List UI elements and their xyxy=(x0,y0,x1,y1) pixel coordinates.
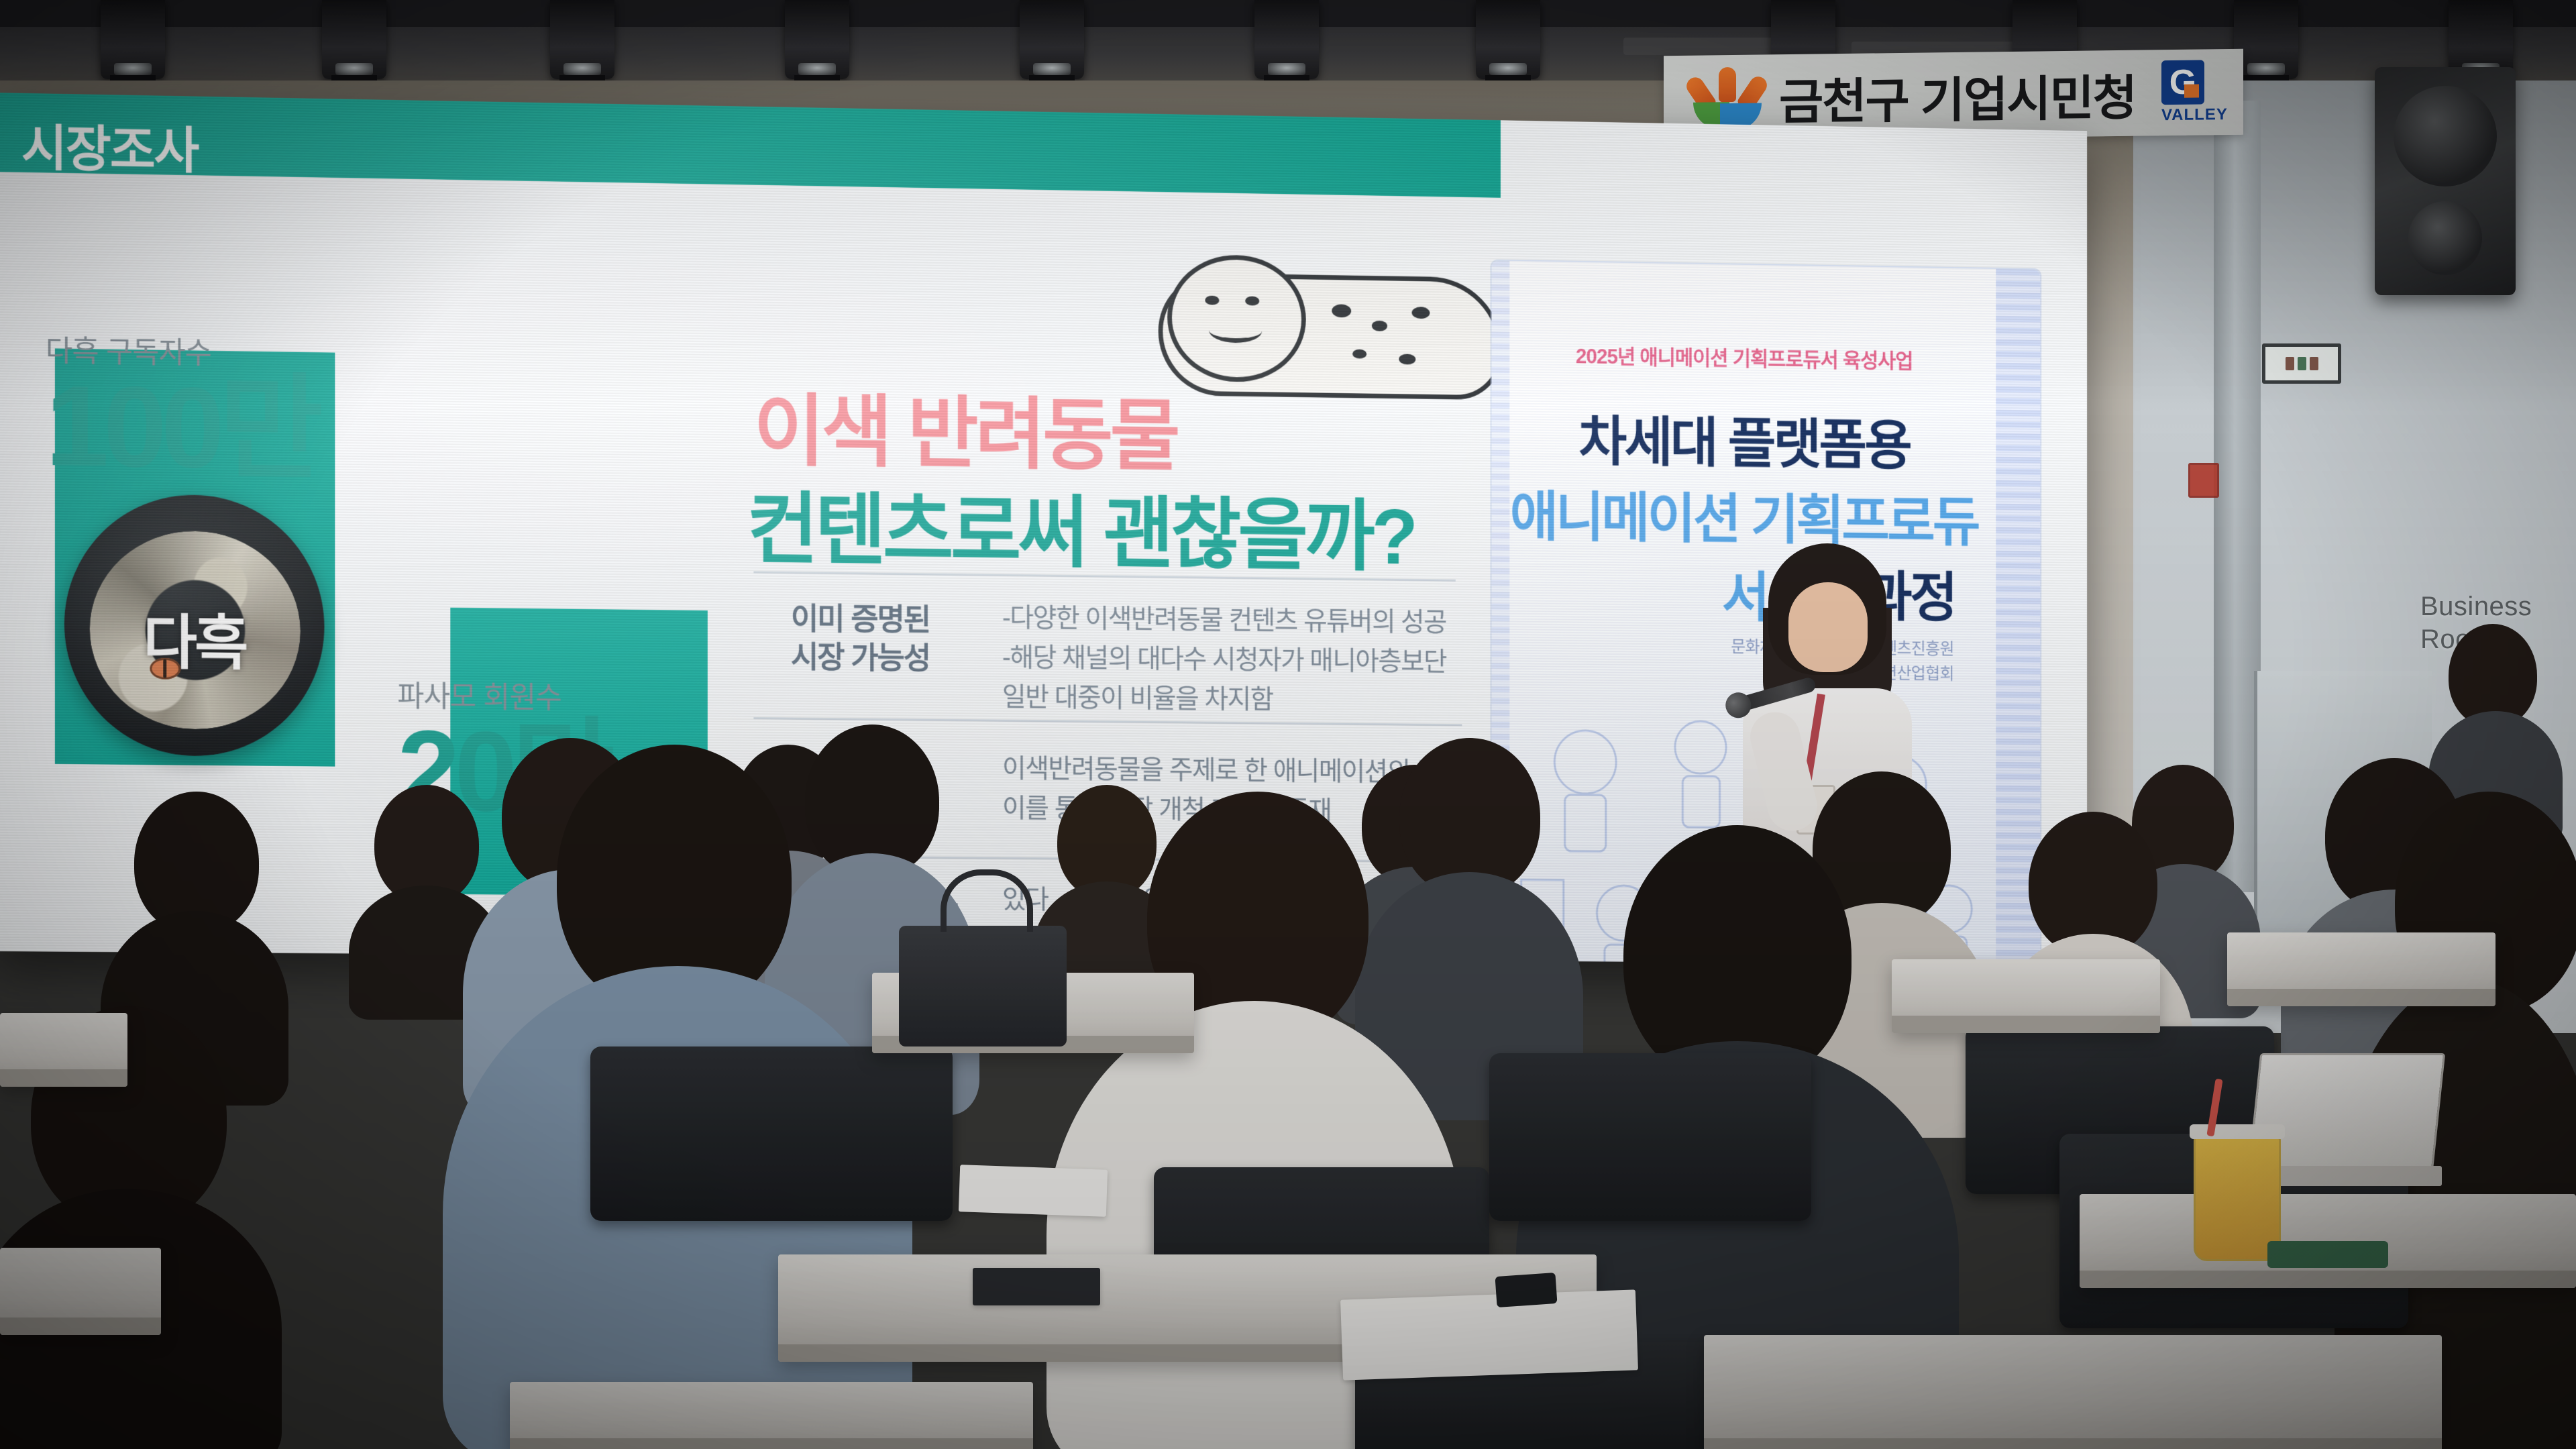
table-row-value: -다양한 이색반려동물 컨텐츠 유튜버의 성공 xyxy=(1002,599,1446,641)
ceiling-spotlight-icon xyxy=(1254,0,1319,79)
stat-card-subscribers: 다흑 구독자수 100만 xyxy=(46,327,318,484)
presentation-room-photo: Business Room 금천구 기업시민청 G VALLEY 시장조사 다흑… xyxy=(0,0,2576,1449)
table xyxy=(510,1382,1033,1449)
wall-notice-sign xyxy=(2262,343,2341,384)
smartphone[interactable] xyxy=(1495,1273,1558,1307)
g-valley-label: VALLEY xyxy=(2161,105,2228,125)
chair[interactable] xyxy=(590,1046,953,1221)
handout-paper xyxy=(959,1165,1108,1217)
geumcheon-flower-logo-icon xyxy=(1693,66,1763,129)
g-valley-logo: G VALLEY xyxy=(2161,60,2228,125)
ceiling-spotlight-icon xyxy=(2234,0,2298,79)
table xyxy=(0,1248,161,1335)
badge-label: 다흑 xyxy=(64,594,325,682)
ceiling-spotlight-icon xyxy=(1476,0,1540,79)
g-valley-mark-icon: G xyxy=(2161,60,2204,105)
pen[interactable] xyxy=(2267,1241,2388,1268)
ceiling-spotlight-icon xyxy=(550,0,614,79)
stat-value: 100만 xyxy=(46,372,318,484)
mascot-creature-icon xyxy=(1159,254,1495,397)
table-row-key: 이미 증명된 시장 가능성 xyxy=(752,599,968,678)
poster-title-line1: 차세대 플랫폼용 xyxy=(1492,396,1996,481)
banner-org-name: 금천구 기업시민청 xyxy=(1779,58,2136,132)
ceiling-speaker xyxy=(2375,67,2516,295)
presenter-face xyxy=(1788,582,1868,672)
table xyxy=(2227,932,2495,1006)
handout-paper xyxy=(1340,1289,1638,1380)
ceiling-spotlight-icon xyxy=(322,0,386,79)
table-row-value: -해당 채널의 대다수 시청자가 매니아층보단 xyxy=(1002,639,1446,681)
slide-header-title: 시장조사 xyxy=(21,108,198,182)
table-foreground xyxy=(1704,1335,2442,1449)
ceiling-spotlight-icon xyxy=(101,0,165,79)
table xyxy=(1892,959,2160,1033)
ceiling-spotlight-icon xyxy=(785,0,849,79)
daheuk-channel-badge: 다흑 xyxy=(64,493,325,757)
ceiling-spotlight-icon xyxy=(1020,0,1084,79)
poster-kicker: 2025년 애니메이션 기획프로듀서 육성사업 xyxy=(1492,338,1996,375)
table-row-value: 일반 대중이 비율을 차지함 xyxy=(1002,679,1273,719)
table xyxy=(0,1013,127,1087)
fire-alarm-box xyxy=(2188,463,2219,498)
slide-headline-secondary: 컨텐츠로써 괜찮을까? xyxy=(747,465,1415,586)
chair[interactable] xyxy=(1489,1053,1811,1221)
handbag xyxy=(899,926,1067,1046)
remote-clicker[interactable] xyxy=(973,1268,1100,1305)
